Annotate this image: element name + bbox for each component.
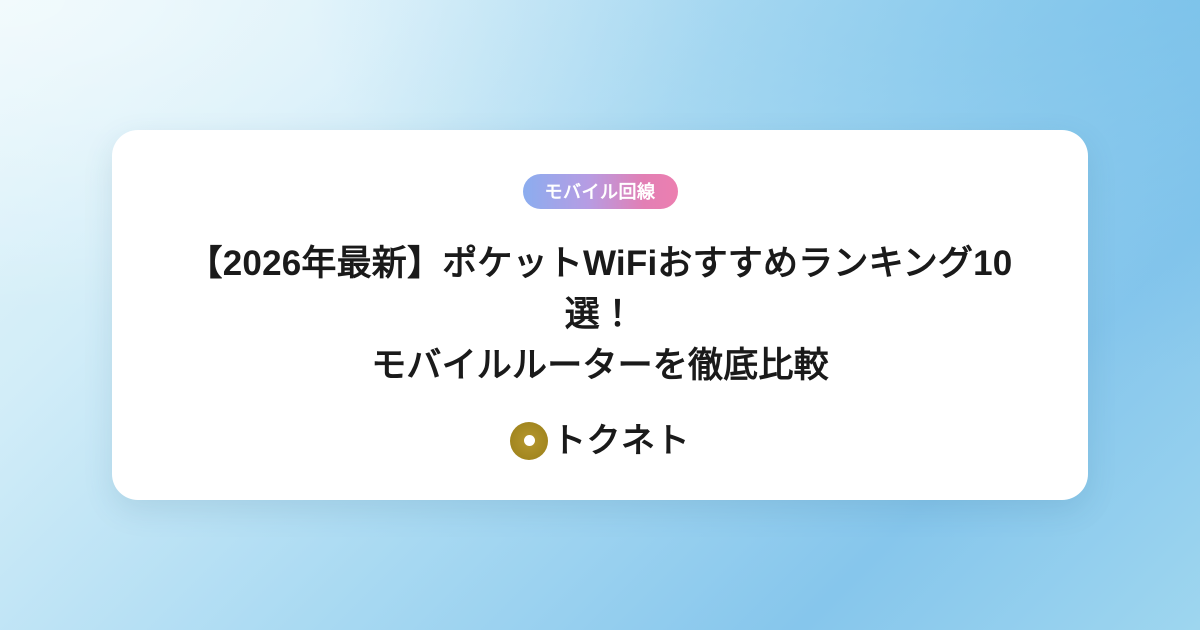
category-badge[interactable]: モバイル回線 <box>523 174 678 209</box>
site-logo-label: トクネト <box>552 424 690 458</box>
page-title-line-2: モバイルルーターを徹底比較 <box>168 341 1032 392</box>
logo-circle-icon <box>510 422 548 460</box>
page-title: 【2026年最新】ポケットWiFiおすすめランキング10選！ モバイルルーターを… <box>168 239 1032 391</box>
site-logo[interactable]: トクネト <box>510 422 690 460</box>
content-card: モバイル回線 【2026年最新】ポケットWiFiおすすめランキング10選！ モバ… <box>112 130 1088 499</box>
page-title-line-1: 【2026年最新】ポケットWiFiおすすめランキング10選！ <box>168 239 1032 341</box>
og-image-canvas: モバイル回線 【2026年最新】ポケットWiFiおすすめランキング10選！ モバ… <box>0 0 1200 630</box>
